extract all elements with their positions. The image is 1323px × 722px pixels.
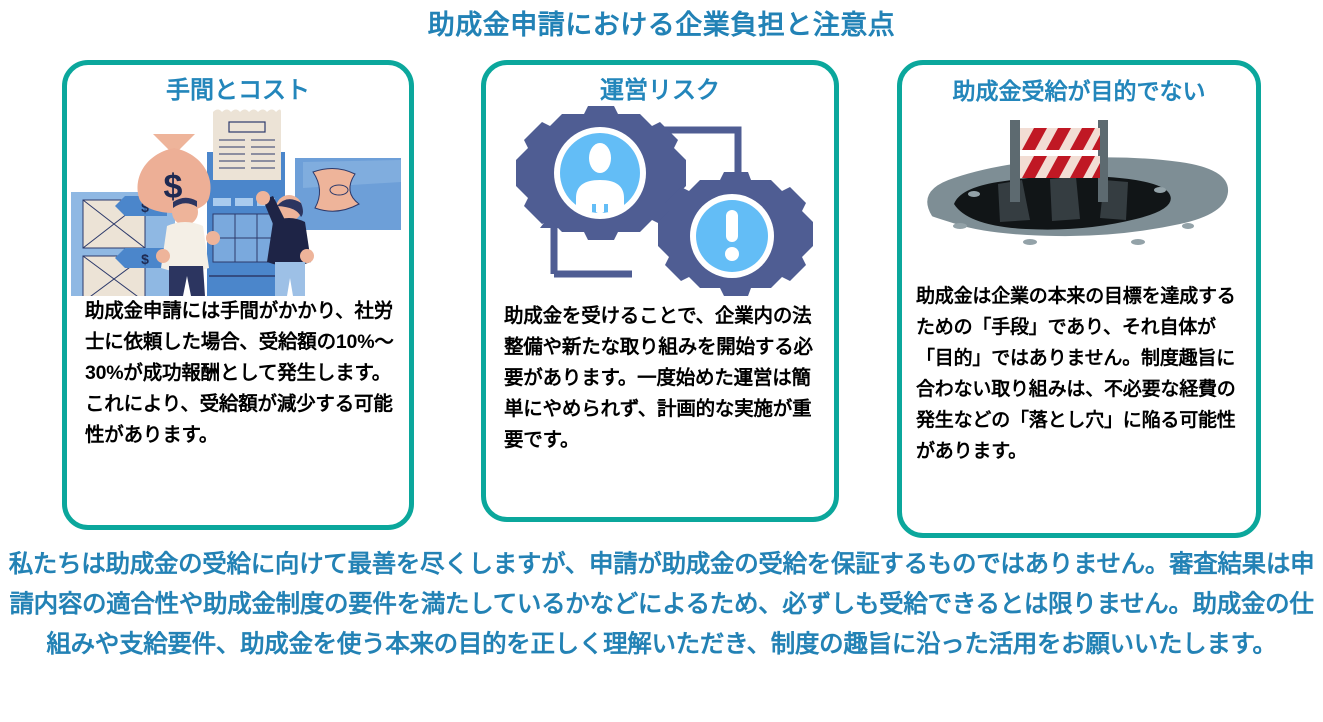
money-cost-illustration-svg: $ $ $ — [67, 106, 407, 296]
dollar-tag-2-label: $ — [141, 251, 149, 267]
receipt-top-edge — [213, 110, 281, 113]
person-left-hand-2 — [156, 249, 170, 263]
person-right-legs — [275, 262, 305, 296]
illustration-pitfall-hole-barrier — [902, 106, 1256, 281]
card-title-unei-risk: 運営リスク — [486, 76, 834, 106]
card-body-jyoseikin-not-purpose: 助成金は企業の本来の目標を達成するための「手段」であり、それ自体が「目的」ではあ… — [902, 281, 1256, 467]
board-chip-2 — [235, 198, 253, 206]
person-body-shape — [576, 180, 624, 214]
card-body-tema-cost: 助成金申請には手間がかかり、社労士に依頼した場合、受給額の10%～30%が成功報… — [67, 296, 409, 451]
illustration-money-bag-documents-people: $ $ $ — [67, 106, 409, 296]
pitfall-illustration-svg — [902, 106, 1256, 281]
person-left-hand — [206, 231, 220, 245]
person-right-hand — [256, 191, 270, 205]
money-bag-tie — [153, 134, 195, 150]
disclaimer-paragraph: 私たちは助成金の受給に向けて最善を尽くしますが、申請が助成金の受給を保証するもの… — [0, 545, 1323, 665]
board-chip-1 — [213, 198, 231, 206]
card-tema-cost: 手間とコスト $ $ — [62, 60, 414, 530]
card-jyoseikin-not-purpose: 助成金受給が目的でない — [897, 60, 1261, 538]
card-title-tema-cost: 手間とコスト — [67, 76, 409, 106]
card-unei-risk: 運営リスク — [481, 60, 839, 522]
gears-cycle-illustration-svg — [486, 106, 834, 301]
illustration-two-gears-cycle — [486, 106, 834, 301]
page-title: 助成金申請における企業負担と注意点 — [0, 8, 1323, 42]
cards-container: 手間とコスト $ $ — [0, 60, 1323, 535]
gear-exclamation-icon — [658, 172, 813, 296]
card-title-jyoseikin-not-purpose: 助成金受給が目的でない — [902, 76, 1256, 106]
person-right-hand-2 — [300, 249, 314, 263]
card-body-unei-risk: 助成金を受けることで、企業内の法整備や新たな取り組みを開始する必要があります。一… — [486, 301, 834, 456]
barrier-post-left — [1010, 120, 1020, 202]
person-head-shape — [589, 143, 611, 173]
exclamation-dot — [725, 247, 739, 261]
person-left-legs — [169, 266, 205, 296]
exclamation-bar — [726, 210, 738, 242]
person-left-body — [161, 222, 209, 272]
road-barrier-icon — [1020, 128, 1100, 178]
